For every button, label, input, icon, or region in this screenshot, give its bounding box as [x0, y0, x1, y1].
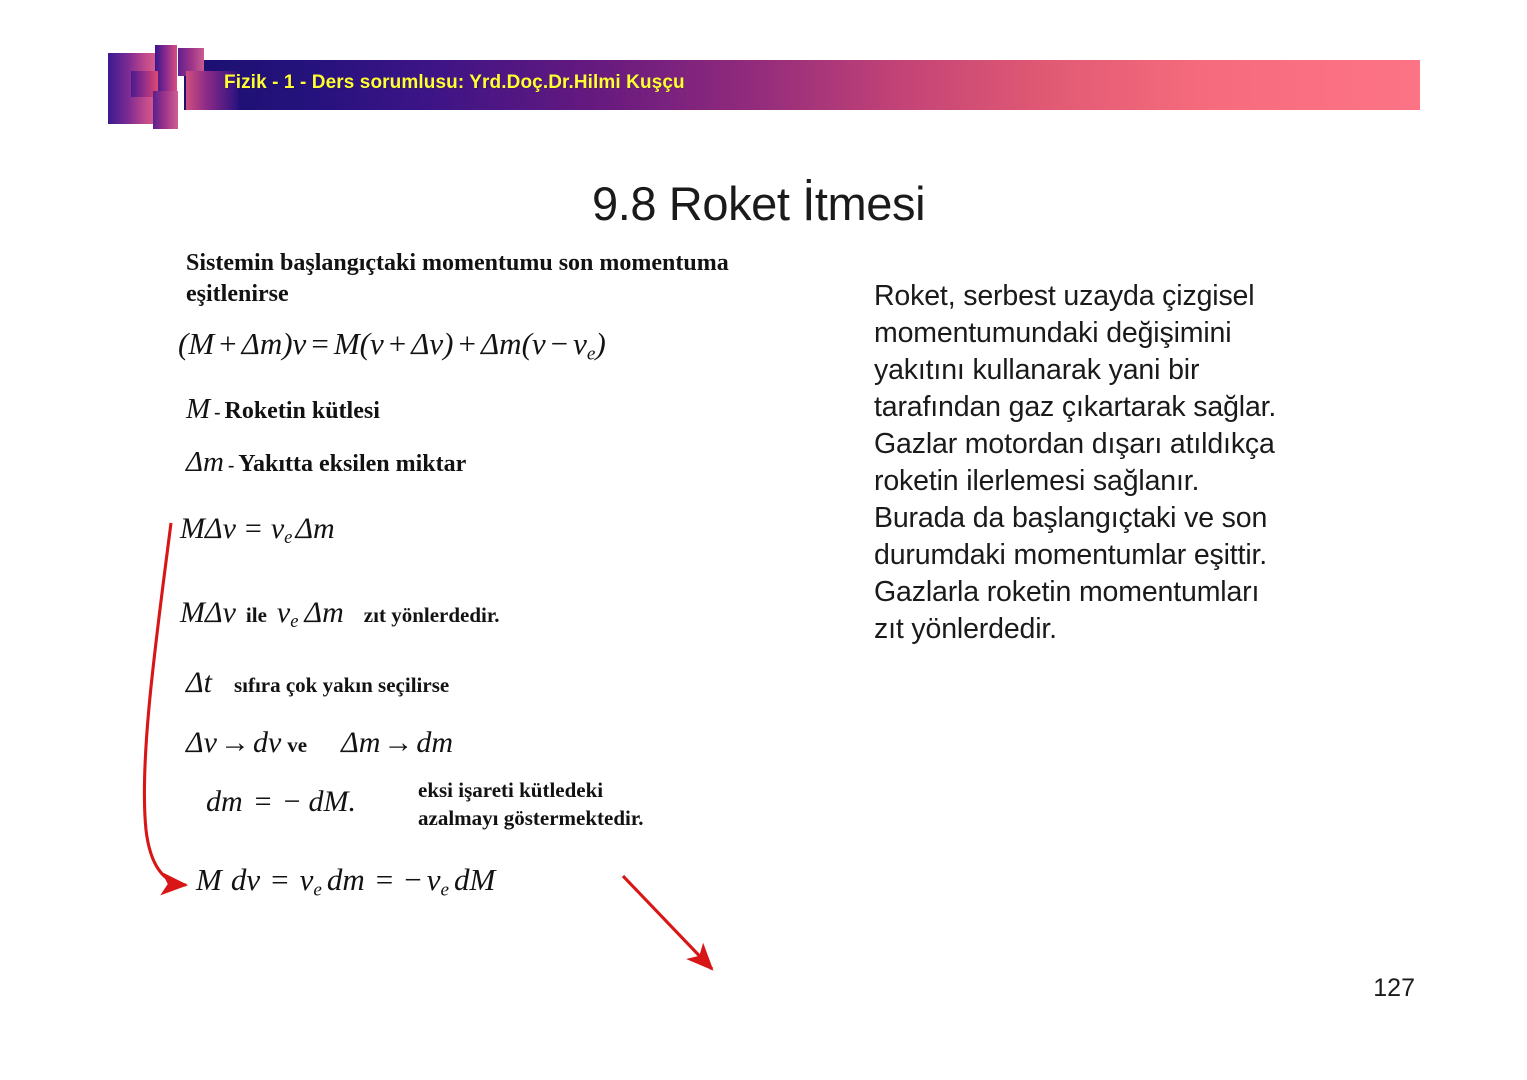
equation-momentum-balance: (M+Δm)v=M(v+Δv)+Δm(v−ve): [178, 326, 606, 365]
equation-rocket-thrust-differential: Mdv=vedm=−vedM: [196, 862, 495, 901]
eq6-lhs: dm: [206, 785, 243, 818]
eq5-left-from: Δv: [186, 726, 217, 759]
right-arrow-icon-1: →: [217, 726, 253, 759]
eq-main-plus-2: +: [384, 326, 411, 361]
deco-block-4: [153, 91, 178, 129]
explanation-line: durumdaki momentumlar eşittir.: [874, 537, 1404, 574]
eq3-conjunction: ile: [236, 603, 277, 627]
diagonal-red-arrow: [623, 876, 712, 969]
explanation-line: yakıtını kullanarak yani bir: [874, 352, 1404, 389]
eq3-term-2-v: v: [277, 596, 290, 629]
explanation-line: tarafından gaz çıkartarak sağlar.: [874, 389, 1404, 426]
note-line-2: azalmayı göstermektedir.: [418, 805, 644, 833]
eq5-left-to: dv: [253, 726, 281, 759]
slide-title: 9.8 Roket İtmesi: [592, 176, 925, 231]
definition-fuel-loss: Δm-Yakıtta eksilen miktar: [186, 446, 466, 479]
eq-main-close-2: ): [595, 326, 605, 361]
eq-main-ve: v: [573, 326, 587, 361]
right-arrow-icon-2: →: [380, 726, 416, 759]
eq-main-lhs-open: (M: [178, 326, 214, 361]
equation-dm-equals-minus-dM: dm=−dM.: [206, 785, 356, 819]
eq-main-plus-1: +: [214, 326, 241, 361]
eq-main-delta-m-2: Δm(v: [481, 326, 546, 361]
eq4-text: sıfıra çok yakın seçilirse: [212, 673, 449, 697]
eq-main-close-1: ): [443, 326, 453, 361]
eq7-mid-subscript: e: [313, 879, 322, 900]
eq7-dv: dv: [222, 862, 260, 897]
eq4-symbol: Δt: [186, 666, 212, 699]
minus-sign-note: eksi işareti kütledeki azalmayı gösterme…: [418, 777, 644, 833]
eq7-mid-dm: dm: [322, 862, 365, 897]
eq5-right-from: Δm: [313, 726, 380, 759]
eq5-right-to: dm: [416, 726, 453, 759]
eq-main-plus-3: +: [454, 326, 481, 361]
eq3-term-1: MΔv: [180, 596, 236, 629]
equation-mdv-equals-vedm: MΔv=veΔm: [180, 512, 335, 549]
eq6-rhs: dM.: [309, 785, 357, 818]
equation-limit-substitutions: Δv→dvveΔm→dm: [186, 726, 453, 760]
eq7-equals-2: =: [365, 862, 404, 897]
eq-main-m-open: M(v: [334, 326, 384, 361]
eq-main-delta-v: Δv: [411, 326, 443, 361]
note-line-1: eksi işareti kütledeki: [418, 777, 644, 805]
eq-main-delta-m: Δm: [242, 326, 283, 361]
lead-text-line-1: Sistemin başlangıçtaki momentumu son mom…: [186, 250, 729, 277]
eq2-lhs: MΔv: [180, 512, 236, 545]
equation-opposite-directions: MΔvileveΔmzıt yönlerdedir.: [180, 596, 510, 633]
eq7-mid-v: v: [300, 862, 314, 897]
eq7-equals-1: =: [260, 862, 299, 897]
explanation-line: Roket, serbest uzayda çizgisel: [874, 278, 1404, 315]
explanation-line: roketin ilerlemesi sağlanır.: [874, 463, 1404, 500]
lead-text-line-2: eşitlenirse: [186, 281, 289, 308]
eq7-rhs-v: v: [427, 862, 441, 897]
eq-main-equals: =: [306, 326, 333, 361]
eq-main-minus: −: [546, 326, 573, 361]
explanation-line: Gazlar motordan dışarı atıldıkça: [874, 426, 1404, 463]
eq6-minus: −: [284, 785, 309, 818]
eq7-minus: −: [404, 862, 426, 897]
page-number: 127: [1373, 974, 1415, 1003]
explanation-line: zıt yönlerdedir.: [874, 611, 1404, 648]
explanation-line: Gazlarla roketin momentumları: [874, 574, 1404, 611]
definition-2-symbol: Δm: [186, 446, 224, 478]
curved-red-arrow: [144, 523, 186, 885]
eq6-equals: =: [243, 785, 284, 818]
eq5-conjunction: ve: [281, 733, 313, 757]
definition-1-dash: -: [210, 402, 224, 423]
eq2-ve: v: [271, 512, 284, 545]
eq3-term-2-delta-m: Δm: [299, 596, 344, 629]
eq2-equals: =: [236, 512, 271, 545]
definition-rocket-mass: M-Roketin kütlesi: [186, 393, 380, 426]
equation-delta-t-condition: Δtsıfıra çok yakın seçilirse: [186, 666, 449, 700]
explanation-paragraph: Roket, serbest uzayda çizgisel momentumu…: [874, 278, 1404, 648]
explanation-line: momentumundaki değişimini: [874, 315, 1404, 352]
definition-1-symbol: M: [186, 393, 210, 425]
eq3-term-2-subscript: e: [290, 611, 298, 632]
definition-1-text: Roketin kütlesi: [225, 398, 380, 424]
eq2-delta-m: Δm: [292, 512, 334, 545]
explanation-line: Burada da başlangıçtaki ve son: [874, 500, 1404, 537]
eq3-tail-text: zıt yönlerdedir.: [344, 603, 510, 627]
eq7-m: M: [196, 862, 222, 897]
eq7-rhs-dM: dM: [449, 862, 495, 897]
eq7-rhs-subscript: e: [441, 879, 450, 900]
header-title: Fizik - 1 - Ders sorumlusu: Yrd.Doç.Dr.H…: [224, 72, 685, 94]
eq-main-close-v: )v: [282, 326, 306, 361]
definition-2-dash: -: [224, 455, 238, 476]
definition-2-text: Yakıtta eksilen miktar: [238, 451, 466, 477]
